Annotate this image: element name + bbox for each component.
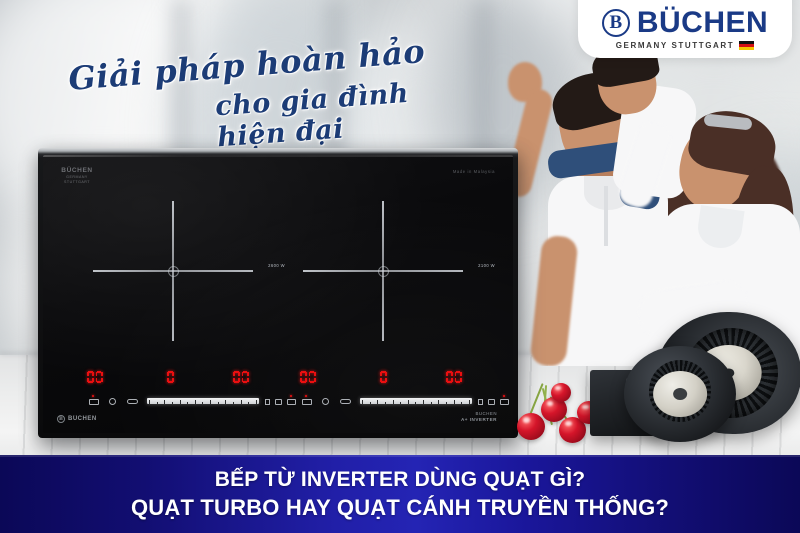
- cooktop-etch-brand: BÜCHEN: [55, 167, 99, 175]
- display-left-level: [167, 371, 174, 383]
- digit: [455, 371, 462, 383]
- digit: [242, 371, 249, 383]
- brand-logo-badge: B BÜCHEN GERMANY STUTTGART: [578, 0, 792, 58]
- control-panel-left[interactable]: [85, 371, 285, 421]
- cooktop-logo-word: BÜCHEN: [68, 416, 97, 422]
- pause-icon[interactable]: [340, 399, 351, 404]
- cooktop-footer-logo: B BÜCHEN: [57, 415, 97, 423]
- display-left-timer: [87, 371, 103, 383]
- digit: [446, 371, 453, 383]
- cherry: [517, 413, 545, 440]
- german-flag-icon: [739, 41, 754, 50]
- cooktop-logo-mark: B: [57, 415, 65, 423]
- cooktop-etch-sub: GERMANY STUTTGART: [55, 175, 99, 184]
- cherry: [551, 383, 571, 402]
- turbo-fans-group: [596, 318, 800, 458]
- digit: [233, 371, 240, 383]
- timer-icon[interactable]: [302, 399, 312, 405]
- digit: [380, 371, 387, 383]
- pot-icon[interactable]: [275, 399, 282, 405]
- power-slider-right[interactable]: [360, 398, 472, 404]
- digit: [300, 371, 307, 383]
- banner-line-1: BẾP TỪ INVERTER DÙNG QUẠT GÌ?: [215, 468, 586, 492]
- timer-icon[interactable]: [89, 399, 99, 405]
- cooktop-cert-label: BUCHEN A+ INVERTER: [461, 411, 497, 423]
- cooktop-brand-etching: BÜCHEN GERMANY STUTTGART: [55, 167, 99, 184]
- induction-cooktop[interactable]: BÜCHEN GERMANY STUTTGART Made in Malaysi…: [38, 148, 518, 438]
- pot-icon[interactable]: [488, 399, 495, 405]
- cooking-zone-left-label: 2600 W: [268, 263, 285, 268]
- digit: [96, 371, 103, 383]
- turbo-fan-front: [590, 348, 740, 448]
- display-right-power: [446, 371, 462, 383]
- cooking-zone-right[interactable]: 2100 W: [303, 201, 463, 341]
- brand-tagline: GERMANY STUTTGART: [616, 41, 735, 50]
- digit: [87, 371, 94, 383]
- display-right-level: [380, 371, 387, 383]
- power-icon[interactable]: [287, 399, 296, 405]
- made-in-label: Made in Malaysia: [453, 169, 495, 174]
- digit: [309, 371, 316, 383]
- power-slider-left[interactable]: [147, 398, 259, 404]
- lock-icon[interactable]: [322, 398, 329, 405]
- logo-b-mark: B: [602, 9, 630, 37]
- pause-icon[interactable]: [127, 399, 138, 404]
- cooking-zone-right-label: 2100 W: [478, 263, 495, 268]
- banner-line-2: QUẠT TURBO HAY QUẠT CÁNH TRUYỀN THỐNG?: [131, 495, 669, 521]
- cert-line-2: A+ INVERTER: [461, 417, 497, 423]
- bottom-banner: BẾP TỪ INVERTER DÙNG QUẠT GÌ? QUẠT TURBO…: [0, 455, 800, 533]
- poster-canvas: Giải pháp hoàn hảo cho gia đình hiện đại…: [0, 0, 800, 533]
- lock-icon[interactable]: [109, 398, 116, 405]
- cooking-zone-left[interactable]: 2600 W: [93, 201, 253, 341]
- boost-icon[interactable]: [265, 399, 270, 405]
- digit: [167, 371, 174, 383]
- boost-icon[interactable]: [478, 399, 483, 405]
- display-left-power: [233, 371, 249, 383]
- display-right-timer: [300, 371, 316, 383]
- brand-name: BÜCHEN: [637, 6, 768, 40]
